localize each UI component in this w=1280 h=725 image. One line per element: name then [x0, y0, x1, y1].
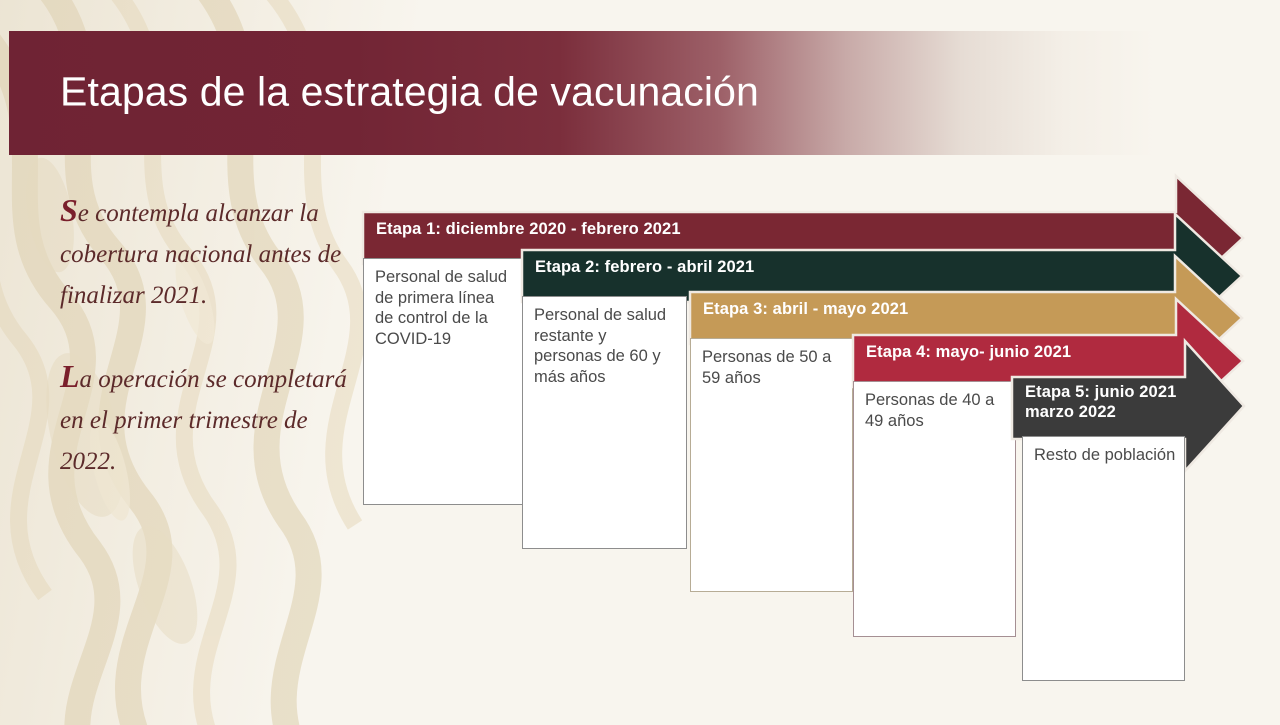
stage-group-5[interactable]: Etapa 5: junio 2021 marzo 2022 Resto de …: [1012, 341, 1244, 686]
stage-box-1[interactable]: Personal de salud de primera línea de co…: [363, 258, 526, 505]
intro-paragraph-text: e contempla alcanzar la cobertura nacion…: [60, 200, 341, 309]
intro-text-block: Se contempla alcanzar la cobertura nacio…: [60, 190, 350, 522]
intro-paragraph-text: a operación se completará en el primer t…: [60, 366, 347, 475]
slide-header-bar: Etapas de la estrategia de vacunación: [9, 31, 1156, 155]
stage-box-text-2: Personal de salud restante y personas de…: [534, 305, 678, 387]
page-title: Etapas de la estrategia de vacunación: [60, 69, 759, 116]
stage-box-text-4: Personas de 40 a 49 años: [865, 390, 1007, 431]
stage-box-5[interactable]: Resto de población: [1022, 436, 1185, 681]
stage-box-4[interactable]: Personas de 40 a 49 años: [853, 381, 1016, 637]
stage-label-5: Etapa 5: junio 2021 marzo 2022: [1025, 382, 1200, 422]
stage-box-text-1: Personal de salud de primera línea de co…: [375, 267, 517, 349]
stage-box-3[interactable]: Personas de 50 a 59 años: [690, 338, 853, 592]
stage-box-text-5: Resto de población: [1034, 445, 1176, 466]
stage-box-2[interactable]: Personal de salud restante y personas de…: [522, 296, 687, 549]
stage-box-text-3: Personas de 50 a 59 años: [702, 347, 844, 388]
intro-paragraph: La operación se completará en el primer …: [60, 356, 350, 482]
intro-dropcap: S: [60, 192, 78, 228]
intro-paragraph: Se contempla alcanzar la cobertura nacio…: [60, 190, 350, 316]
intro-dropcap: L: [60, 358, 80, 394]
